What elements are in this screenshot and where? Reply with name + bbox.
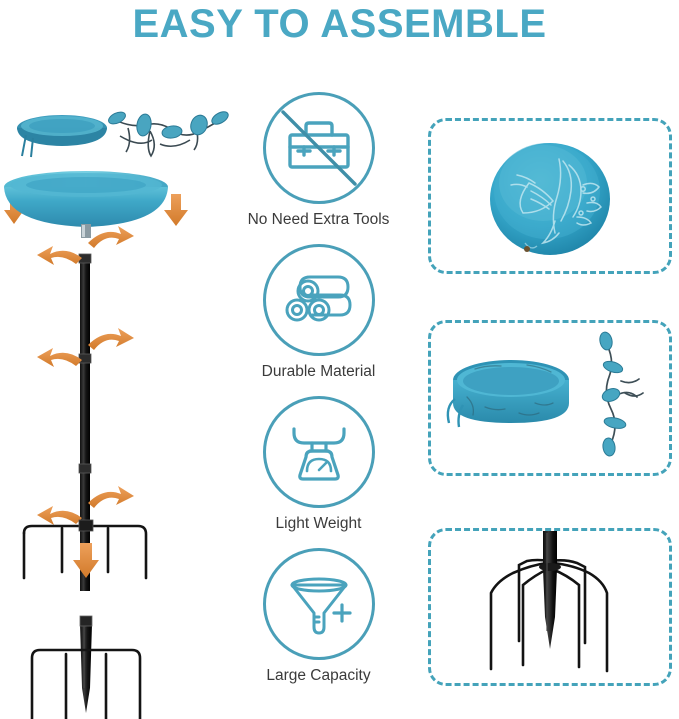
embossed-hummingbird-bowl — [490, 143, 610, 255]
panel-embossed-bowl — [428, 118, 672, 274]
pipe-stack-icon — [263, 244, 375, 356]
funnel-plus-icon — [263, 548, 375, 660]
product-infographic: EASY TO ASSEMBLE — [0, 0, 679, 719]
feature-light-weight: Light Weight — [226, 396, 411, 533]
page-title: EASY TO ASSEMBLE — [0, 2, 679, 47]
down-arrow-vine — [164, 194, 188, 226]
feature-list: No Need Extra Tools — [226, 92, 411, 712]
ground-stake — [80, 616, 92, 713]
panel-tray-and-vine — [428, 320, 672, 476]
feature-label: No Need Extra Tools — [226, 211, 411, 229]
small-top-bowl — [17, 115, 107, 157]
panel-ground-stake — [428, 528, 672, 686]
feature-label: Durable Material — [226, 363, 411, 381]
no-toolbox-icon — [263, 92, 375, 204]
down-arrow-stake — [73, 543, 99, 578]
feature-durable-material: Durable Material — [226, 244, 411, 381]
feature-label: Light Weight — [226, 515, 411, 533]
feature-large-capacity: Large Capacity — [226, 548, 411, 685]
feature-label: Large Capacity — [226, 667, 411, 685]
shallow-tray — [448, 360, 569, 427]
pole-section-upper — [80, 256, 90, 356]
assembly-diagram — [0, 88, 232, 719]
kitchen-scale-icon — [263, 396, 375, 508]
pole-section-middle — [80, 356, 90, 466]
large-main-bowl — [4, 171, 168, 238]
feature-no-tools: No Need Extra Tools — [226, 92, 411, 229]
ground-stake-with-legs — [491, 531, 607, 671]
